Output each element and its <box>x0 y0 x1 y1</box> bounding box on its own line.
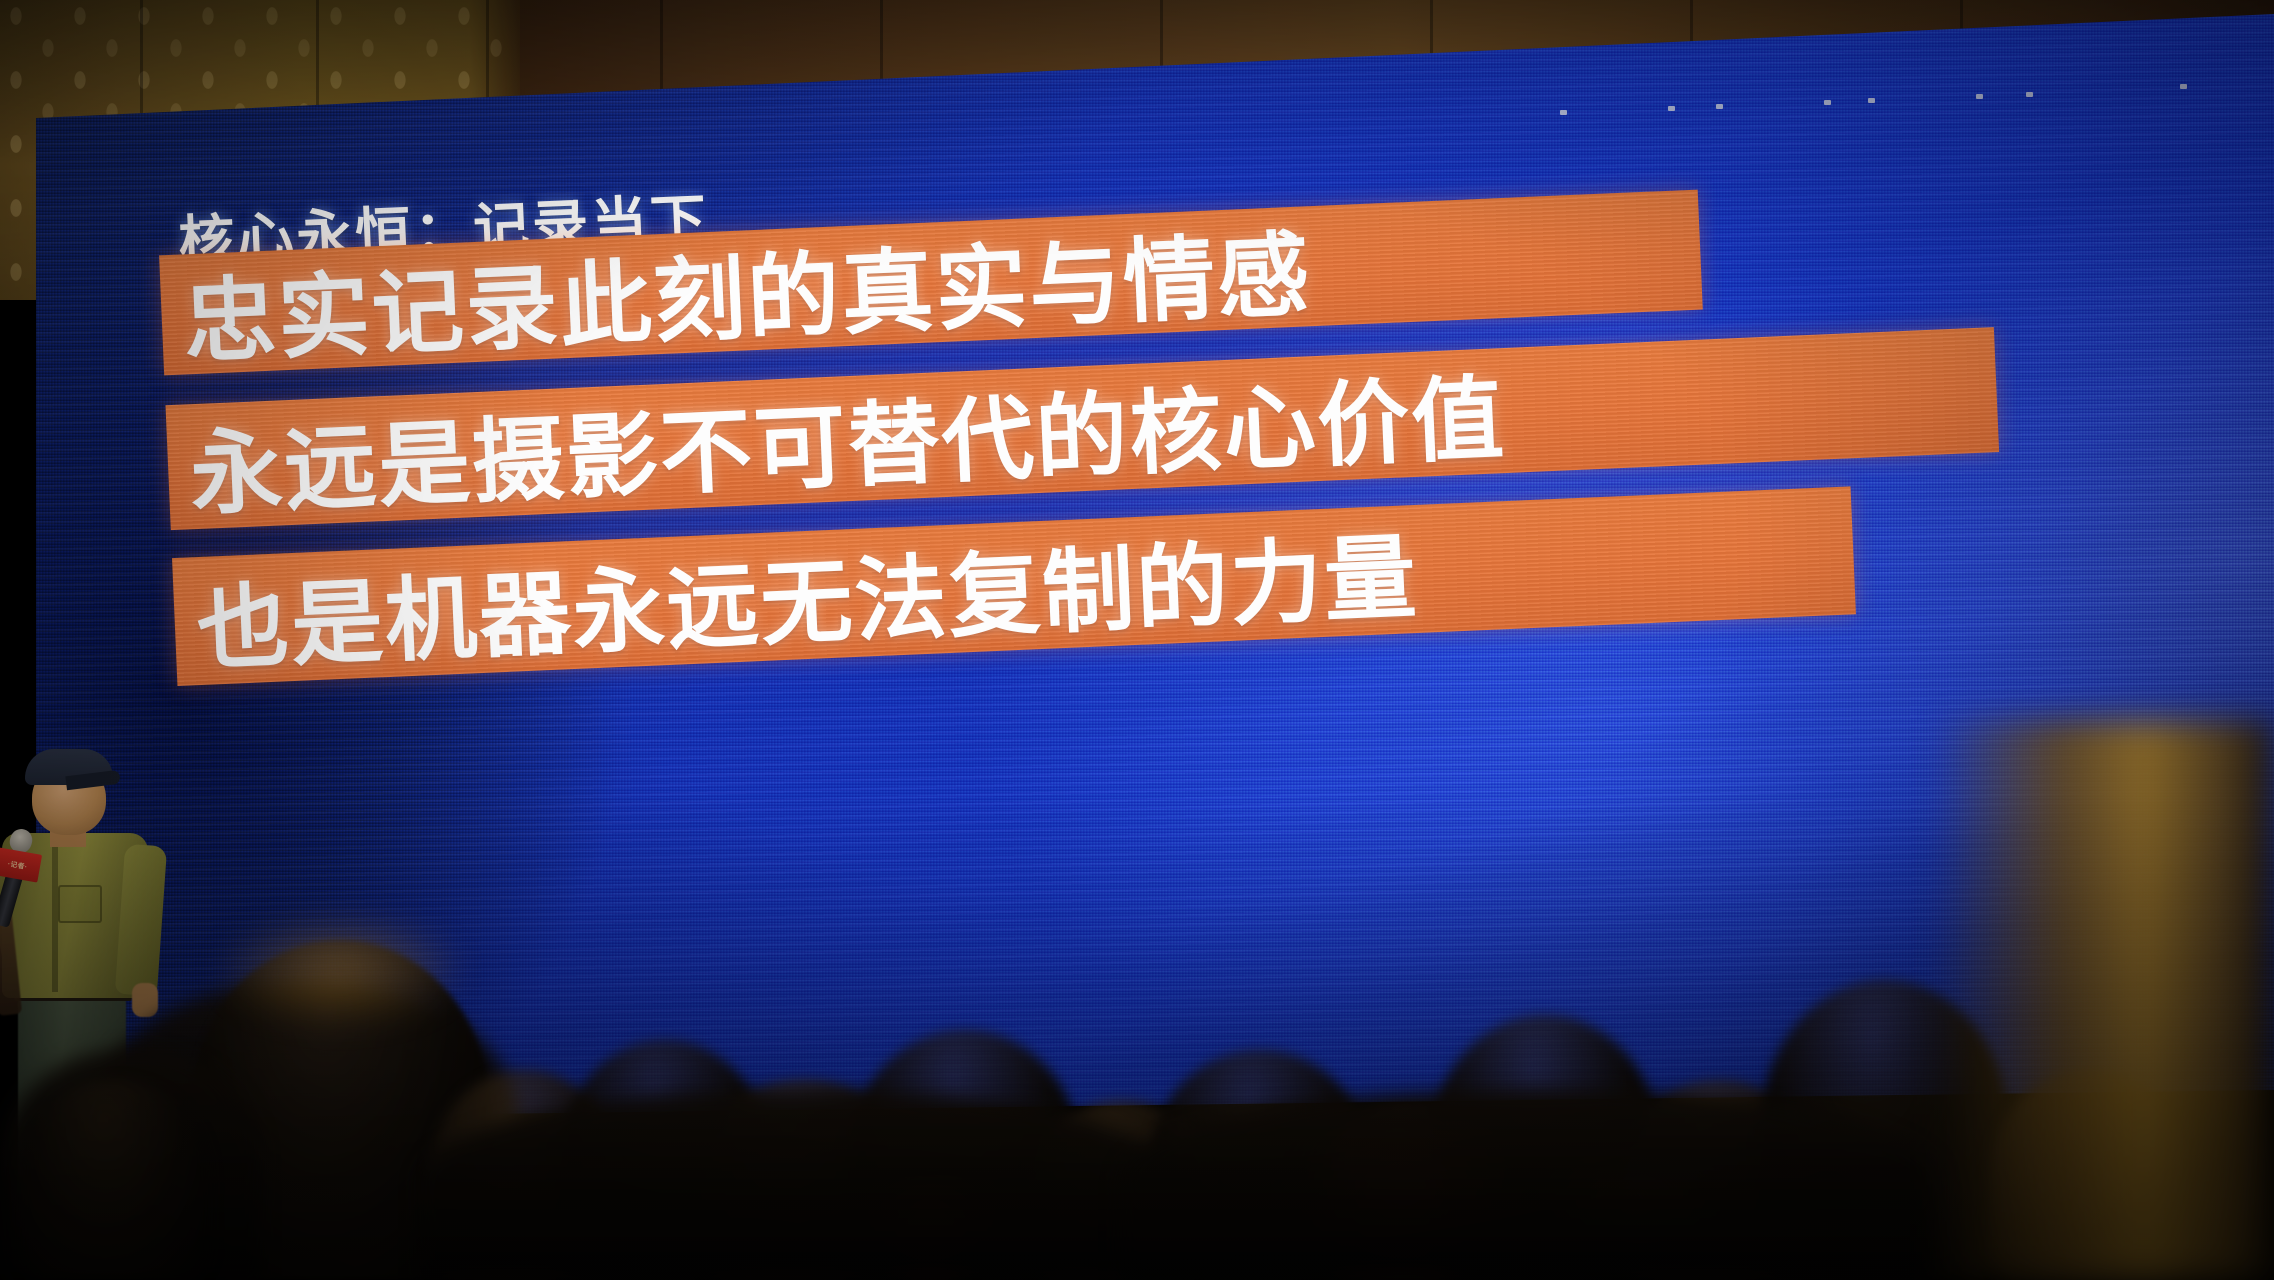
audience-head <box>20 1080 210 1280</box>
audience-shoulders <box>420 1090 1180 1280</box>
slide-line-3: 也是机器永远无法复制的力量 <box>172 502 1421 688</box>
presentation-photo: 核心永恒：记录当下 忠实记录此刻的真实与情感 永远是摄影不可替代的核心价值 也是… <box>0 0 2274 1280</box>
rim-light <box>210 910 470 1030</box>
audience-shoulders <box>1120 1090 1940 1280</box>
foreground-pillar <box>1934 720 2274 1280</box>
audience-foreground <box>0 760 2274 1280</box>
